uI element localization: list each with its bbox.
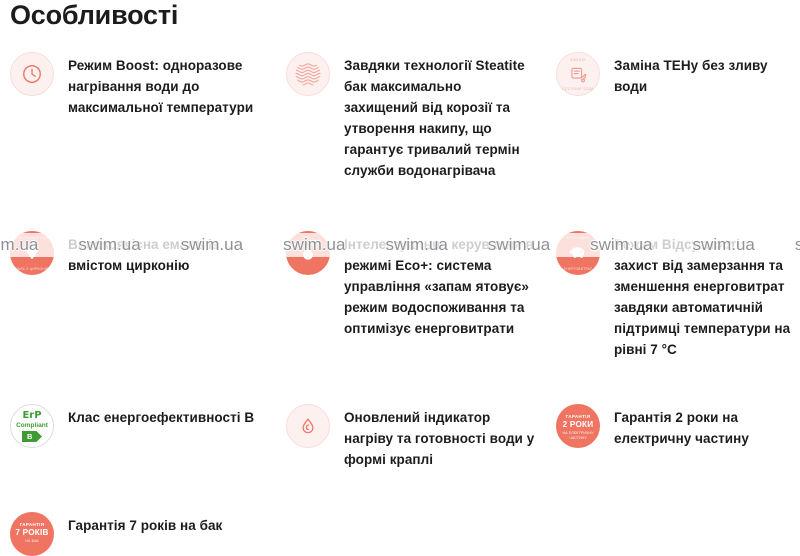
stamp-line-2: 2 РОКИ	[556, 420, 600, 430]
erp-top-label: ErP	[11, 411, 53, 421]
feature-item-eco-plus-control: ECO+ Інтелектуальне керування в режимі E…	[276, 231, 546, 360]
piggy-bank-icon: ЕКОНОМІЯ ЕНЕРГОВИТРАТ	[556, 231, 600, 275]
diamond-icon: ВИСОКОЯКІСНА ЕМАЛЬ З ЦИРКОНІЄМ	[10, 231, 54, 275]
feature-row: ErP Compliant B Клас енергоефективності …	[0, 404, 800, 470]
badge-bottom-label: ЕНЕРГОВИТРАТ	[556, 267, 600, 271]
feature-row: Режим Boost: одноразове нагрівання води …	[0, 52, 800, 181]
badge-top-label: ЗАМІНА	[557, 58, 599, 63]
feature-item-heat-indicator: Оновлений індикатор нагріву та готовност…	[276, 404, 546, 470]
feature-text: Завдяки технології Steatite бак максимал…	[344, 52, 538, 181]
feature-text: Заміна ТЕНу без зливу води	[614, 52, 792, 97]
badge-top-label: ECO+	[286, 236, 330, 241]
feature-row: ВИСОКОЯКІСНА ЕМАЛЬ З ЦИРКОНІЄМ Високоякі…	[0, 231, 800, 360]
heater-service-badge-icon: ЗАМІНА БЕЗ ЗЛИВУ ВОДИ	[556, 52, 600, 96]
feature-item-boost-mode: Режим Boost: одноразове нагрівання води …	[0, 52, 276, 181]
feature-text: Інтелектуальне керування в режимі Eco+: …	[344, 231, 538, 339]
feature-text: Гарантія 7 років на бак	[68, 512, 222, 536]
erp-class-label: B	[22, 431, 42, 442]
features-grid: Режим Boost: одноразове нагрівання води …	[0, 52, 800, 556]
warranty-7-years-stamp-icon: ГАРАНТІЯ 7 РОКІВ НА БАК	[10, 512, 54, 556]
feature-item-steatite-technology: Завдяки технології Steatite бак максимал…	[276, 52, 546, 181]
feature-text: Клас енергоефективності B	[68, 404, 254, 428]
badge-bottom-label: БЕЗ ЗЛИВУ ВОДИ	[557, 87, 599, 91]
feature-text: Оновлений індикатор нагріву та готовност…	[344, 404, 538, 470]
feature-item-energy-class: ErP Compliant B Клас енергоефективності …	[0, 404, 276, 470]
feature-text: Гарантія 2 роки на електричну частину	[614, 404, 792, 449]
stamp-line-4: ЧАСТИНУ	[556, 436, 600, 441]
feature-item-zirconium-enamel: ВИСОКОЯКІСНА ЕМАЛЬ З ЦИРКОНІЄМ Високоякі…	[0, 231, 276, 360]
feature-row: ГАРАНТІЯ 7 РОКІВ НА БАК Гарантія 7 років…	[0, 512, 800, 556]
feature-item-warranty-2-years: ГАРАНТІЯ 2 РОКИ НА ЕЛЕКТРИЧНУ ЧАСТИНУ Га…	[546, 404, 800, 470]
badge-top-label: ЕКОНОМІЯ	[556, 236, 600, 241]
badge-top-label: ВИСОКОЯКІСНА	[10, 236, 54, 241]
badge-bottom-label: ЕМАЛЬ З ЦИРКОНІЄМ	[10, 267, 54, 271]
feature-text: Режим Відсутності: захист від замерзання…	[614, 231, 792, 360]
warranty-2-years-stamp-icon: ГАРАНТІЯ 2 РОКИ НА ЕЛЕКТРИЧНУ ЧАСТИНУ	[556, 404, 600, 448]
water-drop-solid-icon: ECO+	[286, 231, 330, 275]
stamp-line-2: 7 РОКІВ	[10, 528, 54, 538]
clock-icon	[10, 52, 54, 96]
stamp-line-3: НА БАК	[10, 539, 54, 544]
feature-item-absence-mode: ЕКОНОМІЯ ЕНЕРГОВИТРАТ Режим Відсутності:…	[546, 231, 800, 360]
waves-icon	[286, 52, 330, 96]
feature-text: Високоякісна емаль із вмістом цирконію	[68, 231, 268, 276]
feature-item-empty	[546, 512, 800, 556]
feature-item-empty	[276, 512, 546, 556]
feature-text: Режим Boost: одноразове нагрівання води …	[68, 52, 268, 118]
feature-item-heater-replacement: ЗАМІНА БЕЗ ЗЛИВУ ВОДИ Заміна ТЕНу без зл…	[546, 52, 800, 181]
erp-mid-label: Compliant	[11, 422, 53, 429]
erp-compliant-badge-icon: ErP Compliant B	[10, 404, 54, 448]
feature-item-warranty-7-years: ГАРАНТІЯ 7 РОКІВ НА БАК Гарантія 7 років…	[0, 512, 276, 556]
page-title: Особливості	[10, 0, 178, 32]
water-drop-outline-icon	[286, 404, 330, 448]
